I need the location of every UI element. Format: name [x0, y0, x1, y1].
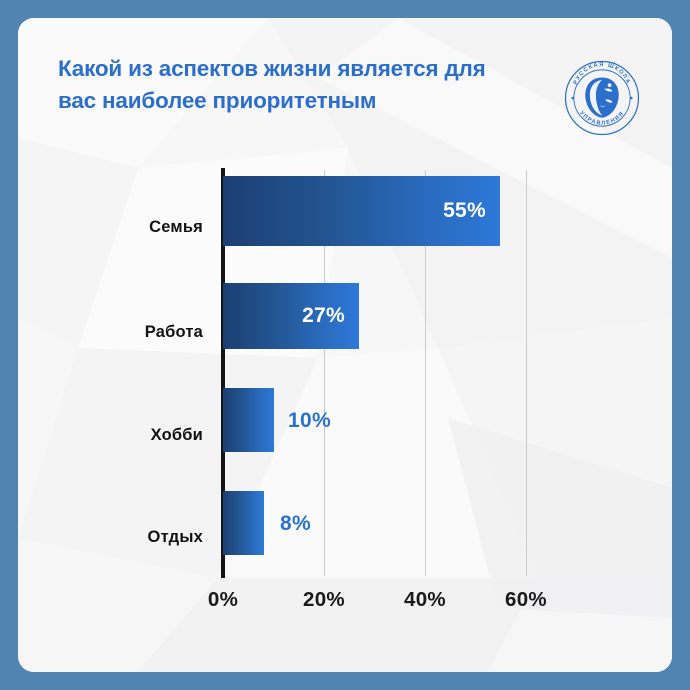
gridline-60: [526, 170, 527, 576]
xtick-label-20: 20%: [303, 588, 345, 612]
bar-work[interactable]: 27%: [223, 283, 359, 349]
bar-chart: 0% 20% 40% 60% Семья Работа Хобби Отдых …: [18, 18, 672, 672]
poster-card: Какой из аспектов жизни является для вас…: [18, 18, 672, 672]
poster-frame: Какой из аспектов жизни является для вас…: [0, 0, 690, 690]
category-label-rest: Отдых: [78, 528, 203, 547]
bar-value-rest: 8%: [280, 512, 311, 536]
category-label-hobby: Хобби: [78, 426, 203, 445]
bar-value-work: 27%: [302, 304, 359, 328]
category-label-work: Работа: [78, 323, 203, 342]
category-label-family: Семья: [78, 218, 203, 237]
bar-value-hobby: 10%: [288, 409, 331, 433]
bar-rest[interactable]: [223, 491, 264, 555]
xtick-label-0: 0%: [208, 588, 238, 612]
xtick-label-60: 60%: [505, 588, 547, 612]
xtick-label-40: 40%: [404, 588, 446, 612]
bar-family[interactable]: 55%: [223, 176, 500, 246]
bar-hobby[interactable]: [223, 388, 274, 452]
bar-value-family: 55%: [443, 199, 500, 223]
